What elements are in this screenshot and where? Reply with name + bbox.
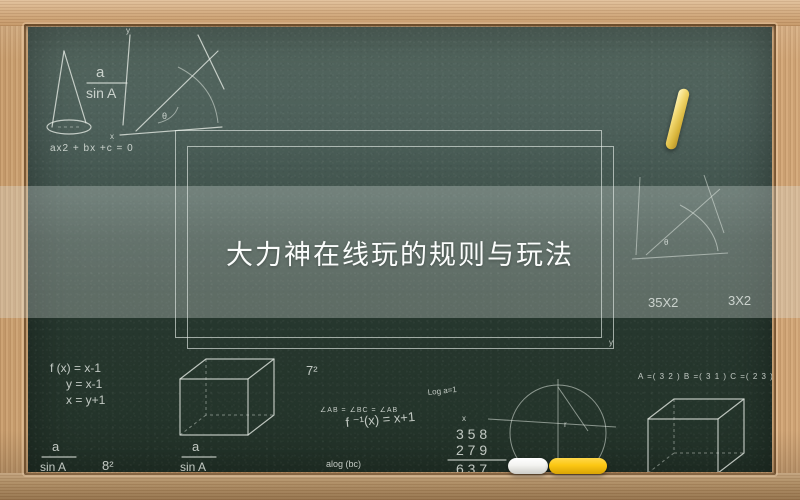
svg-text:x = y+1: x = y+1 [66,393,106,407]
svg-text:r: r [564,420,567,429]
quadratic-equation: ax2 + bx +c = 0 [50,143,134,154]
page-title: 大力神在线玩的规则与玩法 [226,233,574,272]
svg-text:a: a [96,64,105,81]
svg-text:x: x [462,414,466,423]
svg-text:a: a [192,439,200,454]
function-lines-left: f (x) = x-1 y = x-1 x = y+1 [50,361,106,407]
svg-text:y: y [126,27,130,35]
exponent-8-squared: 8² [102,458,114,472]
svg-text:f (x) = x-1: f (x) = x-1 [50,361,101,375]
angle-axes-drawing: y x θ [110,27,224,141]
cube-drawing-left [180,359,274,435]
sine-rule-formula-bottom-left: a sin A [40,439,76,472]
cone-drawing [47,51,91,134]
frame-rail-top [0,0,800,26]
cube-drawing-right [648,399,744,472]
white-chalk-piece-icon [508,458,548,474]
log-label: Log a=1 [427,385,457,397]
svg-text:2 7 9: 2 7 9 [456,442,487,458]
svg-text:sin A: sin A [40,460,66,472]
sine-rule-formula-top: a sin A [86,64,127,101]
sine-rule-formula-bottom-mid: a sin A [180,439,216,472]
addition-column: x 3 5 8 2 7 9 6 3 7 [448,414,506,472]
yellow-chalk-piece-icon [549,458,607,474]
log-expression: alog (bc) [326,459,361,469]
angle-relation: ∠AB = ∠BC = ∠AB [320,406,398,414]
inverse-function: f ⁻¹(x) = x+1 [345,409,416,430]
svg-text:θ: θ [162,111,167,121]
exponent-7-squared: 7² [306,363,318,378]
matrix-expression: A =( 3 2 ) B =( 3 1 ) C =( 2 3 ) [638,372,772,381]
svg-text:x: x [110,132,114,141]
chalkboard-banner: a sin A y x θ ax2 + bx +c = [0,0,800,500]
svg-text:6 3 7: 6 3 7 [456,461,487,472]
frame-rail-bottom [0,473,800,500]
title-container: 大力神在线玩的规则与玩法 [0,186,800,318]
svg-text:3 5 8: 3 5 8 [456,426,487,442]
svg-text:a: a [52,439,60,454]
svg-text:y = x-1: y = x-1 [66,377,103,391]
svg-text:sin A: sin A [86,85,117,101]
svg-text:sin A: sin A [180,460,206,472]
